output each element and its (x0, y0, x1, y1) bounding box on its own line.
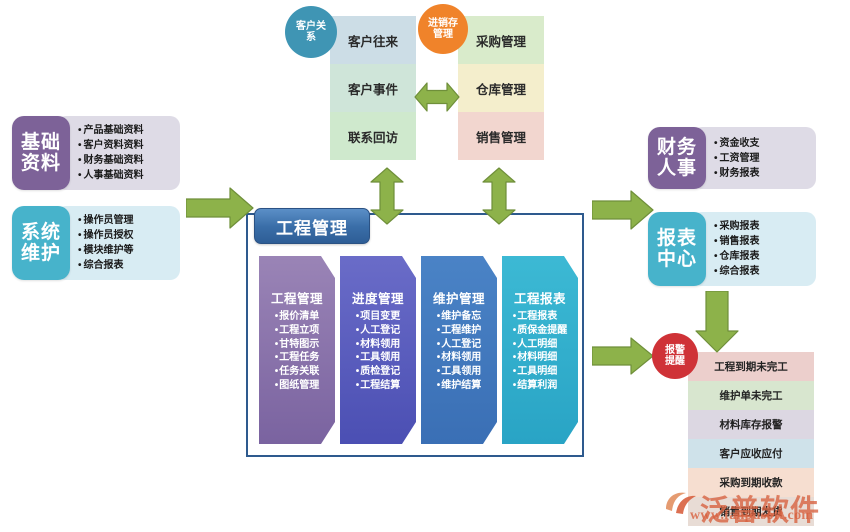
chevron-item[interactable]: 工程结算 (356, 379, 401, 393)
module-item[interactable]: 仓库报表 (714, 249, 810, 264)
alert-row-label: 工程到期未完工 (714, 359, 788, 374)
chip-line: 管理 (428, 29, 458, 40)
top-cell-label: 联系回访 (348, 127, 398, 146)
alert-stack: 工程到期未完工 维护单未完工 材料库存报警 客户应收应付 采购到期收款 销售到期… (688, 352, 814, 526)
module-card-finance-hr[interactable]: 财务 人事 资金收支 工资管理 财务报表 (648, 127, 816, 189)
module-item-list: 产品基础资料 客户资料资料 财务基础资料 人事基础资料 (56, 116, 180, 190)
chevron-content: 工程报表 工程报表 质保金提醒 人工明细 材料明细 工具明细 结算利润 (502, 256, 578, 444)
chevron-list: 维护备忘 工程维护 人工登记 材料领用 工具领用 维护结算 (437, 310, 482, 393)
chip-line: 客户关 (296, 21, 326, 32)
chevron-item[interactable]: 人工登记 (356, 324, 401, 338)
alert-row-2[interactable]: 材料库存报警 (688, 410, 814, 439)
badge-line: 人事 (657, 158, 697, 179)
top-cell-label: 销售管理 (476, 127, 526, 146)
chevron-item[interactable]: 材料明细 (513, 351, 568, 365)
module-item[interactable]: 操作员管理 (78, 213, 174, 228)
chevron-list: 项目变更 人工登记 材料领用 工具领用 质检登记 工程结算 (356, 310, 401, 393)
module-card-basic-data[interactable]: 基础 资料 产品基础资料 客户资料资料 财务基础资料 人事基础资料 (12, 116, 180, 190)
top-cell-0-0[interactable]: 客户往来 (330, 16, 416, 64)
chevron-item[interactable]: 质保金提醒 (513, 324, 568, 338)
chevron-item[interactable]: 工具领用 (437, 365, 482, 379)
module-item[interactable]: 财务基础资料 (78, 153, 174, 168)
chip-line: 进销存 (428, 18, 458, 29)
top-cell-label: 客户事件 (348, 79, 398, 98)
chevron-item[interactable]: 工程维护 (437, 324, 482, 338)
chevron-engineering-management[interactable]: 工程管理 报价清单 工程立项 甘特图示 工程任务 任务关联 图纸管理 (259, 256, 335, 444)
module-badge: 基础 资料 (12, 116, 70, 190)
chevron-maintenance-management[interactable]: 维护管理 维护备忘 工程维护 人工登记 材料领用 工具领用 维护结算 (421, 256, 497, 444)
engineering-management-title[interactable]: 工程管理 (254, 208, 370, 244)
top-cell-label: 客户往来 (348, 31, 398, 50)
top-cell-1-1[interactable]: 仓库管理 (458, 64, 544, 112)
chevron-item[interactable]: 图纸管理 (275, 379, 320, 393)
module-item[interactable]: 产品基础资料 (78, 123, 174, 138)
module-item[interactable]: 工资管理 (714, 151, 810, 166)
badge-line: 中心 (657, 249, 697, 270)
alert-row-label: 客户应收应付 (720, 446, 783, 461)
module-item[interactable]: 财务报表 (714, 166, 810, 181)
chevron-item[interactable]: 人工明细 (513, 338, 568, 352)
module-item[interactable]: 综合报表 (78, 258, 174, 273)
chevron-content: 维护管理 维护备忘 工程维护 人工登记 材料领用 工具领用 维护结算 (421, 256, 497, 444)
top-group-cells-0: 客户往来 客户事件 联系回访 (330, 16, 416, 160)
module-item[interactable]: 资金收支 (714, 136, 810, 151)
diagram-canvas: 客户往来 客户事件 联系回访 客户关 系 采购管理 仓库管理 销售管理 进销存 … (0, 0, 850, 532)
badge-line: 基础 (21, 132, 61, 153)
badge-line: 财务 (657, 137, 697, 158)
chevron-item[interactable]: 工具领用 (356, 351, 401, 365)
chevron-item[interactable]: 结算利润 (513, 379, 568, 393)
badge-line: 系统 (21, 222, 61, 243)
alert-row-4[interactable]: 采购到期收款 (688, 468, 814, 497)
badge-line: 报表 (657, 228, 697, 249)
module-item-list: 资金收支 工资管理 财务报表 (692, 127, 816, 189)
chevron-content: 进度管理 项目变更 人工登记 材料领用 工具领用 质检登记 工程结算 (340, 256, 416, 444)
module-item-list: 采购报表 销售报表 仓库报表 综合报表 (692, 212, 816, 286)
arrow-up-down-icon (369, 167, 405, 225)
arrow-left-right-icon (414, 79, 460, 115)
chip-alert-reminder[interactable]: 报警 提醒 (652, 333, 698, 379)
chevron-title: 进度管理 (352, 288, 404, 307)
module-card-system-maintenance[interactable]: 系统 维护 操作员管理 操作员授权 模块维护等 综合报表 (12, 206, 180, 280)
top-cell-0-1[interactable]: 客户事件 (330, 64, 416, 112)
top-cell-label: 仓库管理 (476, 79, 526, 98)
chevron-engineering-reports[interactable]: 工程报表 工程报表 质保金提醒 人工明细 材料明细 工具明细 结算利润 (502, 256, 578, 444)
chip-customer-relations[interactable]: 客户关 系 (285, 6, 337, 58)
chevron-item[interactable]: 材料领用 (437, 351, 482, 365)
chip-line: 提醒 (665, 356, 685, 367)
top-cell-1-2[interactable]: 销售管理 (458, 112, 544, 160)
chevron-item[interactable]: 质检登记 (356, 365, 401, 379)
alert-row-label: 采购到期收款 (720, 475, 783, 490)
chevron-item[interactable]: 报价清单 (275, 310, 320, 324)
module-item[interactable]: 销售报表 (714, 234, 810, 249)
module-item[interactable]: 采购报表 (714, 219, 810, 234)
module-item-list: 操作员管理 操作员授权 模块维护等 综合报表 (56, 206, 180, 280)
arrow-down-icon (695, 291, 739, 353)
module-item[interactable]: 综合报表 (714, 264, 810, 279)
chevron-item[interactable]: 人工登记 (437, 338, 482, 352)
chevron-title: 维护管理 (433, 288, 485, 307)
alert-row-1[interactable]: 维护单未完工 (688, 381, 814, 410)
chevron-list: 工程报表 质保金提醒 人工明细 材料明细 工具明细 结算利润 (513, 310, 568, 393)
chevron-item[interactable]: 甘特图示 (275, 338, 320, 352)
alert-row-label: 维护单未完工 (720, 388, 783, 403)
chevron-progress-management[interactable]: 进度管理 项目变更 人工登记 材料领用 工具领用 质检登记 工程结算 (340, 256, 416, 444)
chevron-item[interactable]: 工程立项 (275, 324, 320, 338)
chevron-item[interactable]: 维护备忘 (437, 310, 482, 324)
chevron-item[interactable]: 工具明细 (513, 365, 568, 379)
top-cell-1-0[interactable]: 采购管理 (458, 16, 544, 64)
arrow-up-down-icon (481, 167, 517, 225)
chip-inventory-management[interactable]: 进销存 管理 (418, 4, 468, 54)
alert-row-0[interactable]: 工程到期未完工 (688, 352, 814, 381)
top-cell-label: 采购管理 (476, 31, 526, 50)
badge-line: 资料 (21, 153, 61, 174)
chevron-content: 工程管理 报价清单 工程立项 甘特图示 工程任务 任务关联 图纸管理 (259, 256, 335, 444)
module-item[interactable]: 客户资料资料 (78, 138, 174, 153)
arrow-right-icon (186, 187, 254, 229)
module-card-report-center[interactable]: 报表 中心 采购报表 销售报表 仓库报表 综合报表 (648, 212, 816, 286)
arrow-right-icon (592, 190, 654, 230)
chevron-title: 工程管理 (271, 288, 323, 307)
module-badge: 财务 人事 (648, 127, 706, 189)
chevron-item[interactable]: 材料领用 (356, 338, 401, 352)
chevron-list: 报价清单 工程立项 甘特图示 工程任务 任务关联 图纸管理 (275, 310, 320, 393)
alert-row-5[interactable]: 销售到期发货 (688, 497, 814, 526)
module-item[interactable]: 操作员授权 (78, 228, 174, 243)
chevron-item[interactable]: 工程任务 (275, 351, 320, 365)
chevron-item[interactable]: 工程报表 (513, 310, 568, 324)
module-badge: 系统 维护 (12, 206, 70, 280)
chevron-item[interactable]: 任务关联 (275, 365, 320, 379)
alert-row-label: 材料库存报警 (720, 417, 783, 432)
module-badge: 报表 中心 (648, 212, 706, 286)
chip-line: 报警 (665, 345, 685, 356)
chip-line: 系 (296, 32, 326, 43)
chevron-item[interactable]: 项目变更 (356, 310, 401, 324)
badge-line: 维护 (21, 243, 61, 264)
alert-row-3[interactable]: 客户应收应付 (688, 439, 814, 468)
top-group-cells-1: 采购管理 仓库管理 销售管理 (458, 16, 544, 160)
chevron-title: 工程报表 (514, 288, 566, 307)
top-cell-0-2[interactable]: 联系回访 (330, 112, 416, 160)
chevron-item[interactable]: 维护结算 (437, 379, 482, 393)
arrow-right-icon (592, 337, 654, 375)
alert-row-label: 销售到期发货 (720, 504, 783, 519)
module-item[interactable]: 模块维护等 (78, 243, 174, 258)
page-title: 工程管理 (276, 214, 348, 239)
module-item[interactable]: 人事基础资料 (78, 168, 174, 183)
